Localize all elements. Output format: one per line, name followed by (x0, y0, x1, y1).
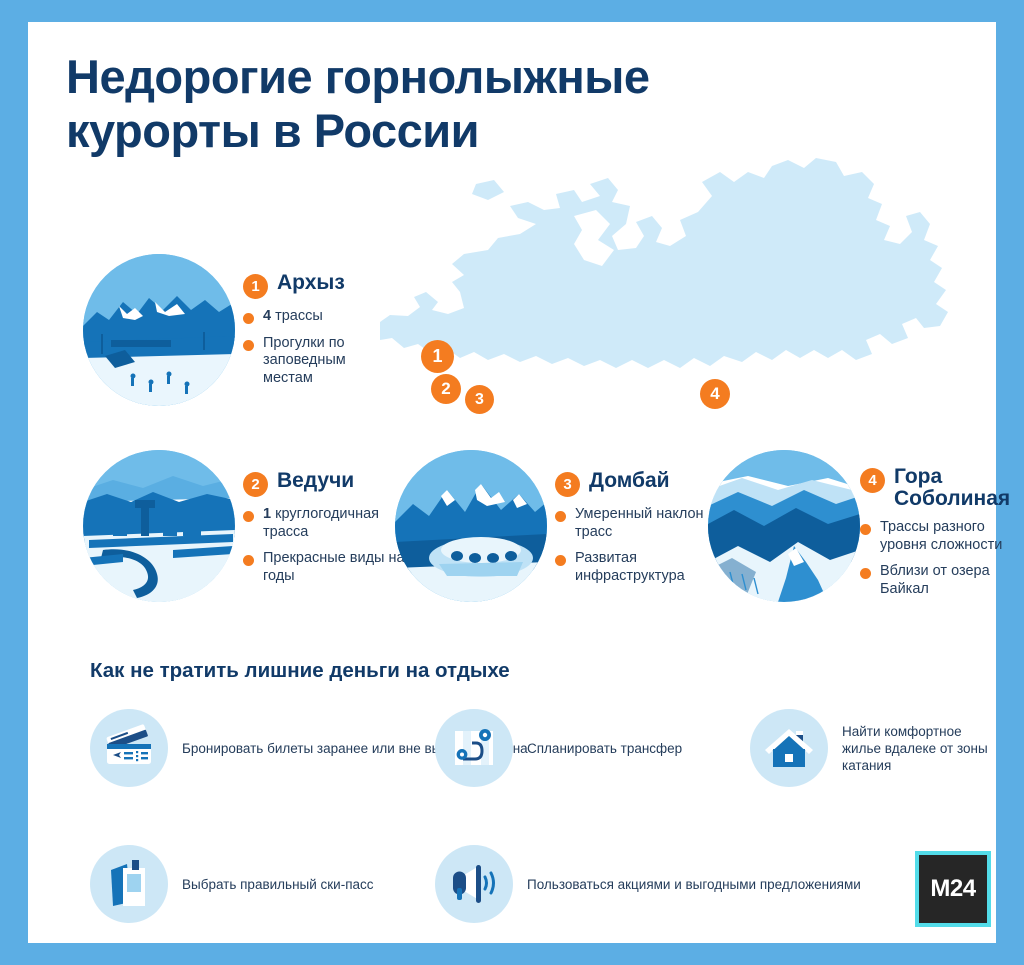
bullet-dot-icon (860, 524, 871, 535)
bullet-text: Прекрасные виды на годы (263, 550, 408, 585)
map-marker-3[interactable]: 3 (465, 385, 494, 414)
resort-number: 3 (555, 472, 580, 497)
house-icon (750, 709, 828, 787)
m24-logo[interactable]: M24 (915, 851, 991, 927)
resort-photo-veduchi (83, 450, 235, 602)
infographic-canvas: Недорогие горнолыжные курорты в России 1… (28, 22, 996, 943)
resort-number: 1 (243, 274, 268, 299)
bullet-dot-icon (555, 555, 566, 566)
map-route-icon (435, 709, 513, 787)
resort-bullet: Вблизи от озера Байкал (860, 563, 1020, 598)
bullet-text: Вблизи от озера Байкал (880, 563, 1020, 598)
resort-header: 3 Домбай (555, 470, 715, 497)
resort-card-dombay: 3 Домбай Умеренный наклон трасс Развитая… (395, 450, 547, 602)
bullet-text: 1 круглогодичная трасса (263, 506, 408, 541)
bullet-dot-icon (243, 511, 254, 522)
resort-bullet: Прогулки по заповедным местам (243, 335, 393, 388)
resort-card-arkhyz: 1 Архыз 4 трассы Прогулки по заповедным … (83, 254, 235, 406)
resort-card-gora-sobolinaya: 4 Гора Соболиная Трассы разного уровня с… (708, 450, 860, 602)
resort-name: Гора Соболиная (894, 466, 1020, 510)
resort-bullet: 4 трассы (243, 308, 393, 326)
resort-bullet: Развитая инфраструктура (555, 550, 715, 585)
bullet-dot-icon (555, 511, 566, 522)
resort-bullet: Прекрасные виды на годы (243, 550, 408, 585)
resort-info-veduchi: 2 Ведучи 1 круглогодичная трасса Прекрас… (243, 470, 408, 594)
resort-name: Ведучи (277, 470, 354, 492)
resort-name: Архыз (277, 272, 345, 294)
resort-info-dombay: 3 Домбай Умеренный наклон трасс Развитая… (555, 470, 715, 594)
tip-text: Спланировать трансфер (527, 740, 682, 757)
resort-name: Домбай (589, 470, 670, 492)
tip-text: Выбрать правильный ски-пасс (182, 876, 374, 893)
map-marker-2[interactable]: 2 (431, 374, 461, 404)
resort-photo-gora-sobolinaya (708, 450, 860, 602)
resort-card-veduchi: 2 Ведучи 1 круглогодичная трасса Прекрас… (83, 450, 235, 602)
tip-item-housing: Найти комфортное жилье вдалеке от зоны к… (750, 709, 996, 787)
bullet-dot-icon (860, 568, 871, 579)
resort-info-gora-sobolinaya: 4 Гора Соболиная Трассы разного уровня с… (860, 466, 1020, 607)
bullet-text: Умеренный наклон трасс (575, 506, 715, 541)
title-line-1: Недорогие горнолыжные (66, 50, 650, 103)
bullet-text: 4 трассы (263, 308, 323, 326)
resort-photo-dombay (395, 450, 547, 602)
ski-pass-card-icon (90, 845, 168, 923)
resort-bullet: Умеренный наклон трасс (555, 506, 715, 541)
map-marker-1[interactable]: 1 (421, 340, 454, 373)
bullet-text: Трассы разного уровня сложности (880, 519, 1020, 554)
megaphone-icon (435, 845, 513, 923)
airline-tickets-icon (90, 709, 168, 787)
tip-item-promotions: Пользоваться акциями и выгодными предлож… (435, 845, 861, 923)
tip-text: Найти комфортное жилье вдалеке от зоны к… (842, 723, 996, 774)
bullet-dot-icon (243, 340, 254, 351)
tip-text: Пользоваться акциями и выгодными предлож… (527, 876, 861, 893)
tips-section-heading: Как не тратить лишние деньги на отдыхе (90, 659, 510, 683)
bullet-dot-icon (243, 555, 254, 566)
resort-header: 1 Архыз (243, 272, 393, 299)
resort-header: 4 Гора Соболиная (860, 466, 1020, 510)
resort-photo-arkhyz (83, 254, 235, 406)
resort-header: 2 Ведучи (243, 470, 408, 497)
resort-bullet: 1 круглогодичная трасса (243, 506, 408, 541)
resort-number: 2 (243, 472, 268, 497)
tip-item-transfer: Спланировать трансфер (435, 709, 682, 787)
resort-bullet: Трассы разного уровня сложности (860, 519, 1020, 554)
resort-info-arkhyz: 1 Архыз 4 трассы Прогулки по заповедным … (243, 272, 393, 396)
tip-item-skipass: Выбрать правильный ски-пасс (90, 845, 374, 923)
map-marker-4[interactable]: 4 (700, 379, 730, 409)
bullet-dot-icon (243, 313, 254, 324)
bullet-text: Развитая инфраструктура (575, 550, 715, 585)
resort-number: 4 (860, 468, 885, 493)
bullet-text: Прогулки по заповедным местам (263, 335, 393, 388)
